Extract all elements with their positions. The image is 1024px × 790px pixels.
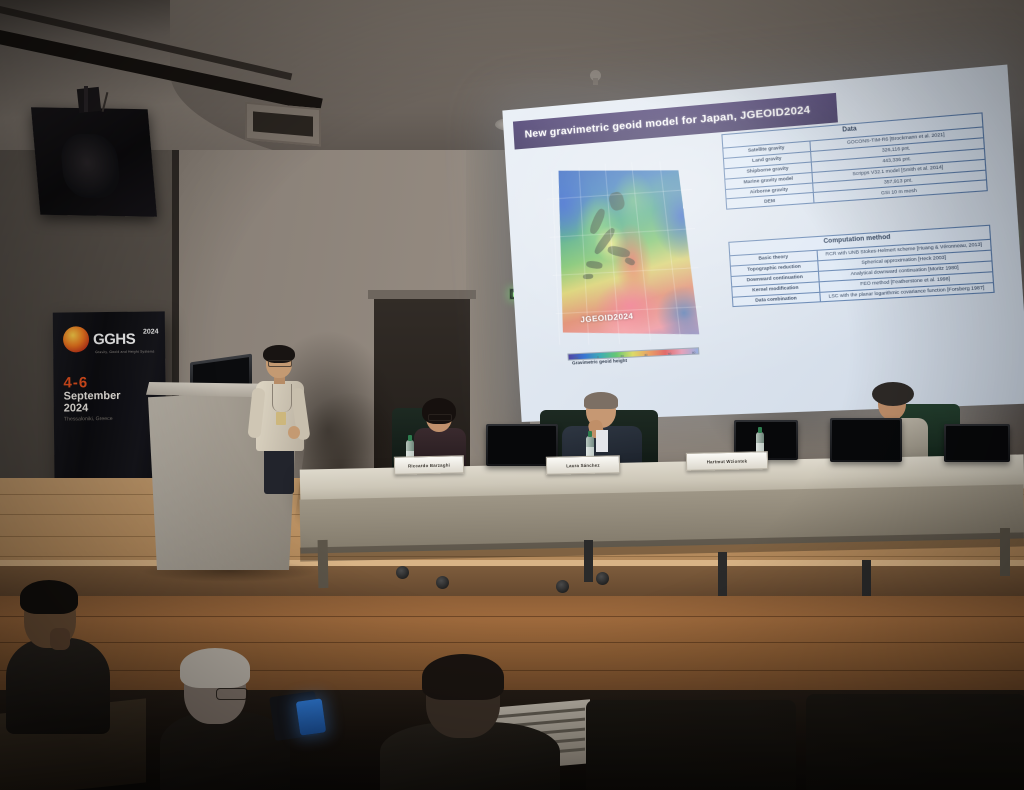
banner-location: Thessaloniki, Greece <box>64 416 113 423</box>
presenter-legs <box>264 448 294 494</box>
presenter-lanyard <box>272 384 292 412</box>
ceiling-speaker <box>31 107 157 217</box>
gghs-subtitle: Gravity, Geoid and Height Systems <box>95 350 154 355</box>
chair-caster <box>556 580 569 593</box>
auditorium-photo: New gravimetric geoid model for Japan, J… <box>0 0 1024 790</box>
glasses-icon <box>428 414 452 421</box>
audience-2-hair <box>180 648 250 688</box>
panelist-2-hair <box>584 392 618 409</box>
chair-post <box>718 552 727 598</box>
gghs-acronym: GGHS <box>93 331 135 348</box>
name-placard-1: Riccardo Barzaghi <box>394 455 464 474</box>
audience-seat-row <box>806 694 1024 790</box>
projection-screen: New gravimetric geoid model for Japan, J… <box>502 65 1024 422</box>
presenter-hand <box>288 426 300 439</box>
presentation-slide: New gravimetric geoid model for Japan, J… <box>502 65 1024 422</box>
gghs-year-badge: 2024 <box>143 329 159 336</box>
banner-dates: 4-6 <box>63 374 88 391</box>
banner-month: September <box>64 390 121 403</box>
glasses-icon <box>216 688 248 700</box>
audience-1-hair <box>20 580 78 614</box>
chair-caster <box>436 576 449 589</box>
gghs-globe-logo-icon <box>63 326 89 352</box>
panelist-3-hair <box>872 382 914 406</box>
audience-member-1 <box>6 586 110 726</box>
projector-glow <box>502 65 1024 422</box>
audience-1-torso <box>6 638 110 734</box>
audience-3-hair <box>422 654 504 700</box>
name-placard-3: Hartmut Wziontek <box>686 451 768 471</box>
audience-member-3 <box>380 660 560 790</box>
audience-2-torso <box>160 712 290 790</box>
audience-member-2 <box>160 654 290 790</box>
audience-1-hand <box>50 628 70 650</box>
chair-post <box>584 540 593 582</box>
wall-alcove-lip <box>368 290 476 299</box>
panel-laptop-3[interactable] <box>830 418 902 462</box>
presenter-speaker <box>250 348 310 488</box>
table-leg-right <box>1000 528 1010 576</box>
audience-seat-row <box>586 700 796 790</box>
panel-laptop-4[interactable] <box>944 424 1010 462</box>
speaker-bracket-arm <box>84 86 88 112</box>
glasses-icon <box>268 360 292 367</box>
presenter-badge <box>276 412 286 425</box>
ceiling-vent <box>245 102 321 147</box>
chair-caster <box>596 572 609 585</box>
table-leg-left <box>318 540 329 588</box>
banner-year: 2024 <box>64 402 89 414</box>
speaker-cone-icon <box>59 134 121 199</box>
panelist-2-shirt <box>596 430 608 452</box>
chair-caster <box>396 566 409 579</box>
sprinkler-head-icon <box>590 70 601 81</box>
speaker-mount-bracket <box>77 87 101 113</box>
audience-phone-screen[interactable] <box>296 698 326 735</box>
name-placard-2: Laura Sánchez <box>546 455 620 475</box>
